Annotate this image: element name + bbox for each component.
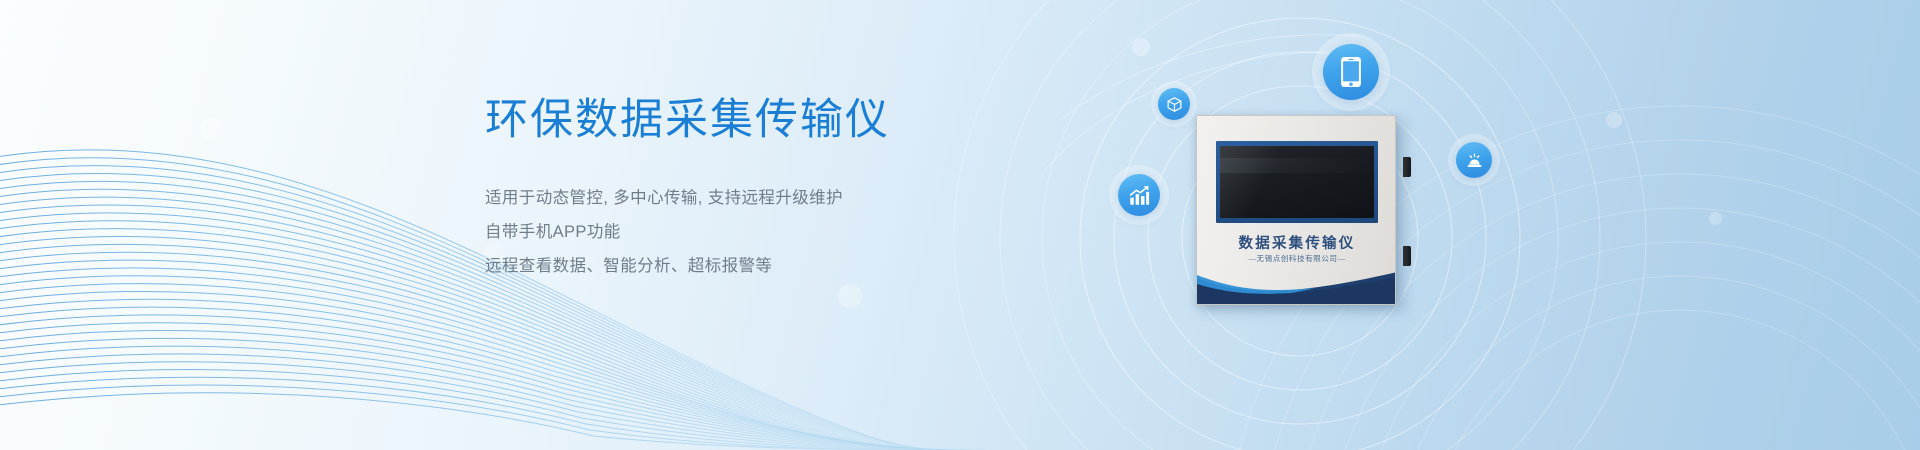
product-hero-banner: 环保数据采集传输仪 适用于动态管控, 多中心传输, 支持远程升级维护 自带手机A… — [0, 0, 1920, 450]
page-title: 环保数据采集传输仪 — [485, 96, 1045, 144]
phone-icon[interactable] — [1323, 44, 1379, 100]
device-side-connector-bottom — [1403, 246, 1411, 266]
cube-icon[interactable] — [1158, 88, 1190, 120]
chart-icon[interactable] — [1118, 174, 1160, 216]
hero-text-block: 环保数据采集传输仪 适用于动态管控, 多中心传输, 支持远程升级维护 自带手机A… — [485, 96, 1045, 284]
bokeh-dot — [1606, 112, 1622, 128]
bokeh-dot — [838, 284, 862, 308]
bokeh-dot — [1132, 38, 1150, 56]
list-item: 适用于动态管控, 多中心传输, 支持远程升级维护 — [485, 182, 1045, 216]
device-bottom-wave — [1197, 260, 1396, 304]
device-enclosure: 数据采集传输仪 —无锡点创科技有限公司— — [1196, 115, 1396, 305]
list-item: 自带手机APP功能 — [485, 216, 1045, 250]
bokeh-dot — [1709, 212, 1722, 225]
device-side-connector-top — [1403, 157, 1411, 177]
device-screen-bezel — [1216, 141, 1378, 223]
feature-list: 适用于动态管控, 多中心传输, 支持远程升级维护 自带手机APP功能 远程查看数… — [485, 182, 1045, 283]
device-display — [1220, 146, 1374, 218]
alarm-icon[interactable] — [1456, 142, 1492, 178]
device-brand-label: 数据采集传输仪 — [1197, 232, 1396, 253]
bokeh-dot — [200, 118, 222, 140]
product-device-image: 数据采集传输仪 —无锡点创科技有限公司— — [1196, 115, 1404, 308]
list-item: 远程查看数据、智能分析、超标报警等 — [485, 250, 1045, 284]
